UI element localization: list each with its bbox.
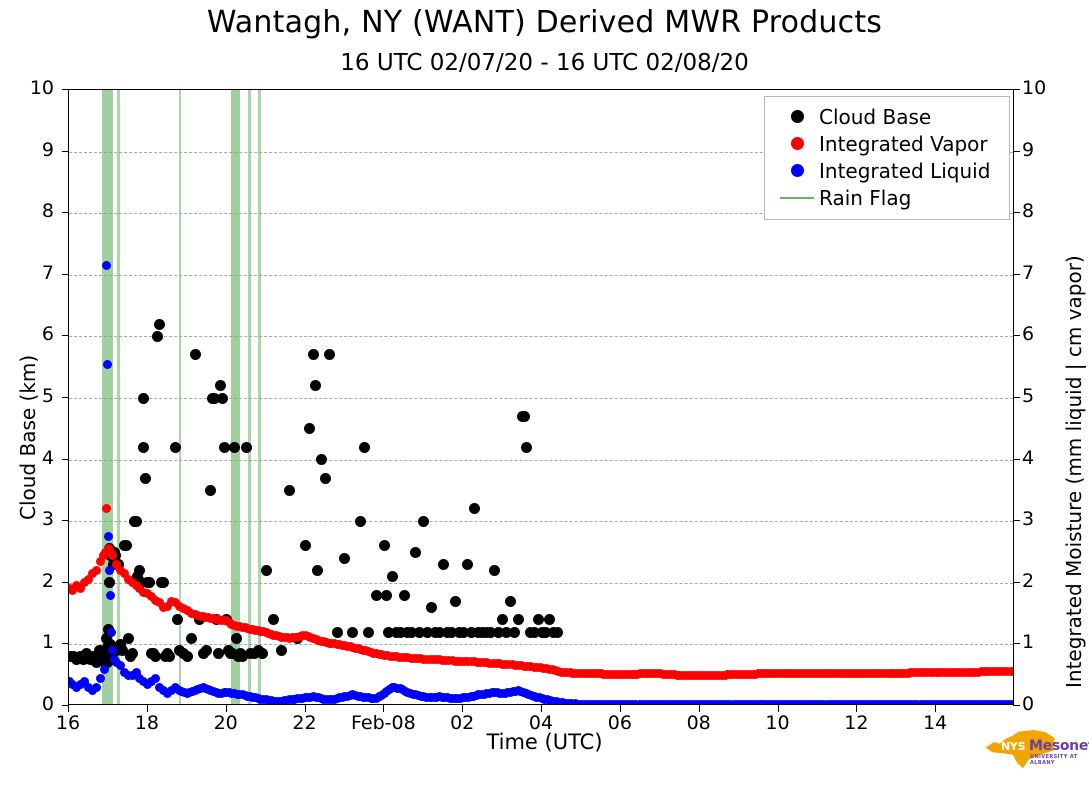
integrated-vapor-marker-icon — [775, 137, 819, 150]
y-axis-label-right: Integrated Moisture (mm liquid | cm vapo… — [1062, 255, 1086, 688]
data-point — [521, 442, 532, 453]
data-point — [106, 591, 115, 600]
data-point — [276, 645, 287, 656]
data-point — [320, 473, 331, 484]
data-point — [158, 577, 169, 588]
legend-item-integrated-vapor[interactable]: Integrated Vapor — [775, 130, 999, 157]
data-point — [131, 516, 142, 527]
data-point — [105, 566, 114, 575]
x-tick-mark-4 — [383, 705, 384, 712]
legend-label-integrated-vapor: Integrated Vapor — [819, 132, 988, 156]
data-point — [497, 614, 508, 625]
data-point — [138, 393, 149, 404]
nys-mesonet-logo: NYS Mesonet UNIVERSITY AT ALBANY — [984, 728, 1084, 776]
y-tick-label-left-3: 3 — [14, 510, 54, 529]
y-tick-label-right-2: 2 — [1022, 572, 1062, 591]
data-point — [229, 442, 240, 453]
data-point — [215, 380, 226, 391]
x-tick-mark-0 — [68, 705, 69, 712]
y-tick-label-left-7: 7 — [14, 264, 54, 283]
x-tick-label-9: 10 — [765, 712, 789, 734]
x-tick-label-5: 02 — [450, 712, 474, 734]
x-tick-mark-3 — [305, 705, 306, 712]
logo-university-text: UNIVERSITY AT ALBANY — [1030, 754, 1084, 766]
data-point — [1007, 700, 1013, 704]
gridline-y-7 — [69, 275, 1013, 276]
y-tick-label-left-5: 5 — [14, 387, 54, 406]
data-point — [152, 331, 163, 342]
x-tick-mark-5 — [462, 705, 463, 712]
y-tick-label-right-1: 1 — [1022, 633, 1062, 652]
gridline-y-1 — [69, 644, 1013, 645]
x-tick-label-1: 18 — [135, 712, 159, 734]
data-point — [108, 551, 117, 560]
data-point — [387, 571, 398, 582]
data-point — [399, 590, 410, 601]
data-point — [359, 442, 370, 453]
data-point — [284, 485, 295, 496]
x-tick-mark-8 — [699, 705, 700, 712]
data-point — [154, 319, 165, 330]
data-point — [533, 614, 544, 625]
data-point — [304, 423, 315, 434]
data-point — [418, 516, 429, 527]
data-point — [347, 627, 358, 638]
data-point — [190, 349, 201, 360]
data-point — [102, 261, 111, 270]
legend-label-rain-flag: Rain Flag — [819, 186, 911, 210]
data-point — [186, 633, 197, 644]
data-point — [513, 614, 524, 625]
y-tick-mark-right-9 — [1013, 151, 1020, 152]
rain-flag-band — [258, 90, 261, 704]
integrated-liquid-marker-icon — [775, 164, 819, 177]
y-tick-label-left-10: 10 — [14, 79, 54, 98]
data-point — [462, 559, 473, 570]
y-tick-label-right-10: 10 — [1022, 79, 1062, 98]
data-point — [300, 540, 311, 551]
y-tick-label-left-0: 0 — [14, 695, 54, 714]
x-tick-label-3: 22 — [292, 712, 316, 734]
x-tick-mark-2 — [226, 705, 227, 712]
data-point — [108, 646, 117, 655]
y-tick-mark-right-6 — [1013, 335, 1020, 336]
data-point — [324, 349, 335, 360]
data-point — [92, 683, 101, 692]
chart-legend: Cloud Base Integrated Vapor Integrated L… — [764, 96, 1010, 220]
y-tick-label-left-9: 9 — [14, 141, 54, 160]
data-point — [332, 627, 343, 638]
y-tick-mark-right-4 — [1013, 459, 1020, 460]
gridline-y-4 — [69, 460, 1013, 461]
y-tick-mark-right-2 — [1013, 582, 1020, 583]
y-tick-label-right-3: 3 — [1022, 510, 1062, 529]
x-tick-label-10: 12 — [844, 712, 868, 734]
data-point — [363, 627, 374, 638]
data-point — [182, 651, 193, 662]
data-point — [1007, 667, 1013, 676]
y-tick-mark-right-3 — [1013, 520, 1020, 521]
y-tick-mark-right-7 — [1013, 274, 1020, 275]
y-tick-label-left-4: 4 — [14, 449, 54, 468]
x-tick-label-4: Feb-08 — [351, 712, 416, 734]
x-tick-mark-11 — [935, 705, 936, 712]
data-point — [205, 485, 216, 496]
x-tick-label-8: 08 — [687, 712, 711, 734]
logo-mesonet-text: Mesonet — [1029, 738, 1089, 754]
data-point — [241, 442, 252, 453]
legend-label-cloud-base: Cloud Base — [819, 105, 931, 129]
x-tick-mark-7 — [620, 705, 621, 712]
data-point — [138, 442, 149, 453]
data-point — [438, 559, 449, 570]
data-point — [121, 540, 132, 551]
data-point — [134, 565, 145, 576]
cloud-base-marker-icon — [775, 110, 819, 123]
legend-label-integrated-liquid: Integrated Liquid — [819, 159, 990, 183]
data-point — [339, 553, 350, 564]
rain-flag-band — [102, 90, 113, 704]
gridline-y-3 — [69, 521, 1013, 522]
y-tick-label-left-1: 1 — [14, 633, 54, 652]
data-point — [92, 566, 101, 575]
y-tick-label-right-9: 9 — [1022, 141, 1062, 160]
data-point — [355, 516, 366, 527]
data-point — [104, 577, 115, 588]
y-tick-label-right-7: 7 — [1022, 264, 1062, 283]
y-tick-mark-right-5 — [1013, 397, 1020, 398]
gridline-y-2 — [69, 583, 1013, 584]
data-point — [123, 633, 134, 644]
data-point — [140, 473, 151, 484]
data-point — [505, 596, 516, 607]
y-tick-mark-right-1 — [1013, 643, 1020, 644]
data-point — [410, 547, 421, 558]
data-point — [381, 590, 392, 601]
y-tick-label-right-0: 0 — [1022, 695, 1062, 714]
data-point — [489, 565, 500, 576]
data-point — [151, 674, 160, 683]
data-point — [310, 380, 321, 391]
x-tick-label-0: 16 — [56, 712, 80, 734]
y-tick-label-left-8: 8 — [14, 202, 54, 221]
data-point — [552, 627, 563, 638]
data-point — [127, 648, 138, 659]
chart-page: Wantagh, NY (WANT) Derived MWR Products … — [0, 0, 1089, 804]
data-point — [426, 602, 437, 613]
y-tick-label-right-6: 6 — [1022, 325, 1062, 344]
data-point — [217, 393, 228, 404]
logo-nys-text: NYS — [1001, 740, 1025, 753]
data-point — [308, 349, 319, 360]
data-point — [261, 565, 272, 576]
x-tick-mark-1 — [147, 705, 148, 712]
data-point — [96, 674, 105, 683]
y-tick-label-left-2: 2 — [14, 572, 54, 591]
data-point — [144, 577, 155, 588]
gridline-y-6 — [69, 336, 1013, 337]
data-point — [107, 628, 116, 637]
chart-title: Wantagh, NY (WANT) Derived MWR Products — [0, 5, 1089, 40]
x-tick-label-7: 06 — [608, 712, 632, 734]
x-tick-label-6: 04 — [529, 712, 553, 734]
y-tick-mark-right-0 — [1013, 705, 1020, 706]
y-tick-label-right-4: 4 — [1022, 449, 1062, 468]
y-tick-label-right-8: 8 — [1022, 202, 1062, 221]
data-point — [104, 532, 113, 541]
data-point — [201, 645, 212, 656]
data-point — [316, 454, 327, 465]
data-point — [544, 614, 555, 625]
chart-subtitle: 16 UTC 02/07/20 - 16 UTC 02/08/20 — [0, 50, 1089, 76]
y-axis-label-left: Cloud Base (km) — [16, 355, 40, 520]
data-point — [103, 360, 112, 369]
data-point — [231, 633, 242, 644]
data-point — [268, 614, 279, 625]
legend-item-integrated-liquid[interactable]: Integrated Liquid — [775, 157, 999, 184]
data-point — [450, 596, 461, 607]
rain-flag-line-icon — [775, 197, 819, 199]
y-tick-mark-right-10 — [1013, 89, 1020, 90]
data-point — [379, 540, 390, 551]
x-tick-label-11: 14 — [923, 712, 947, 734]
data-point — [257, 648, 268, 659]
legend-item-cloud-base[interactable]: Cloud Base — [775, 103, 999, 130]
x-tick-mark-10 — [856, 705, 857, 712]
rain-flag-band — [117, 90, 120, 704]
data-point — [469, 503, 480, 514]
legend-item-rain-flag[interactable]: Rain Flag — [775, 184, 999, 211]
rain-flag-band — [248, 90, 252, 704]
x-tick-label-2: 20 — [214, 712, 238, 734]
data-point — [519, 411, 530, 422]
x-tick-mark-9 — [778, 705, 779, 712]
y-tick-mark-right-8 — [1013, 212, 1020, 213]
y-tick-label-left-6: 6 — [14, 325, 54, 344]
x-tick-mark-6 — [541, 705, 542, 712]
rain-flag-band — [231, 90, 240, 704]
data-point — [170, 442, 181, 453]
data-point — [312, 565, 323, 576]
data-point — [509, 627, 520, 638]
data-point — [100, 665, 109, 674]
data-point — [164, 651, 175, 662]
y-tick-label-right-5: 5 — [1022, 387, 1062, 406]
